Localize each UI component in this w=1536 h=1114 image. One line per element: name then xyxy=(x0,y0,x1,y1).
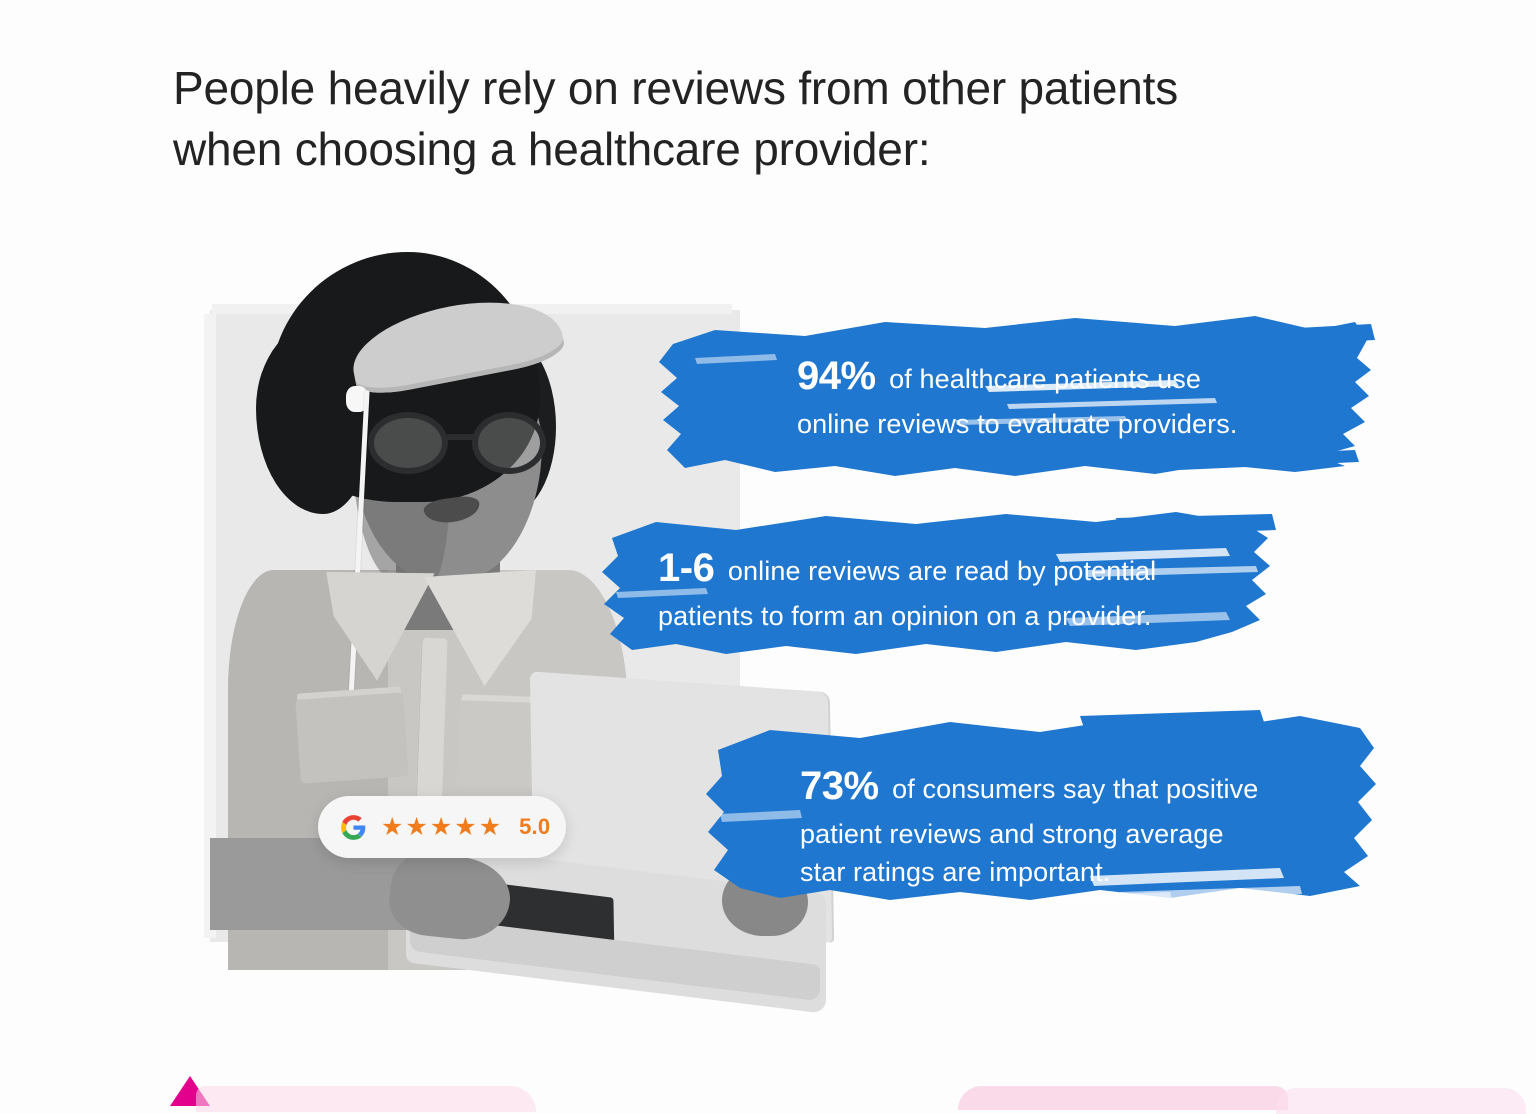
glasses-left-lens xyxy=(368,412,448,474)
star-icon: ★ xyxy=(454,815,476,840)
pink-shape-decoration-right xyxy=(958,1086,1288,1110)
shirt-pocket-left xyxy=(295,692,409,783)
star-icon: ★ xyxy=(405,815,427,840)
stat-banner-73: 73% of consumers say that positive patie… xyxy=(700,700,1380,922)
rating-value: 5.0 xyxy=(519,814,550,840)
headline-line-2: when choosing a healthcare provider: xyxy=(173,119,1373,180)
page-title: People heavily rely on reviews from othe… xyxy=(173,58,1373,180)
stat-banner-73-text: 73% of consumers say that positive patie… xyxy=(800,758,1270,891)
star-icon: ★ xyxy=(430,815,452,840)
google-rating-badge[interactable]: ★ ★ ★ ★ ★ 5.0 xyxy=(318,796,566,858)
glasses-right-lens xyxy=(472,412,546,474)
stat-banner-94: 94% of healthcare patients use online re… xyxy=(655,300,1375,490)
star-rating: ★ ★ ★ ★ ★ xyxy=(381,815,501,840)
stat-figure: 1-6 xyxy=(658,546,714,590)
stat-description: online reviews are read by potential pat… xyxy=(658,556,1156,631)
google-g-icon xyxy=(340,814,367,841)
star-icon: ★ xyxy=(479,815,501,840)
glasses-bridge xyxy=(446,434,476,440)
stat-figure: 73% xyxy=(800,764,879,808)
stat-banner-1-6: 1-6 online reviews are read by potential… xyxy=(596,500,1276,670)
headline-line-1: People heavily rely on reviews from othe… xyxy=(173,58,1373,119)
star-icon: ★ xyxy=(381,815,403,840)
pink-shape-decoration-left xyxy=(196,1086,536,1112)
glasses-icon xyxy=(368,412,570,474)
stat-banner-1-6-text: 1-6 online reviews are read by potential… xyxy=(658,540,1178,635)
stat-banner-94-text: 94% of healthcare patients use online re… xyxy=(797,348,1267,443)
stat-figure: 94% xyxy=(797,354,876,398)
